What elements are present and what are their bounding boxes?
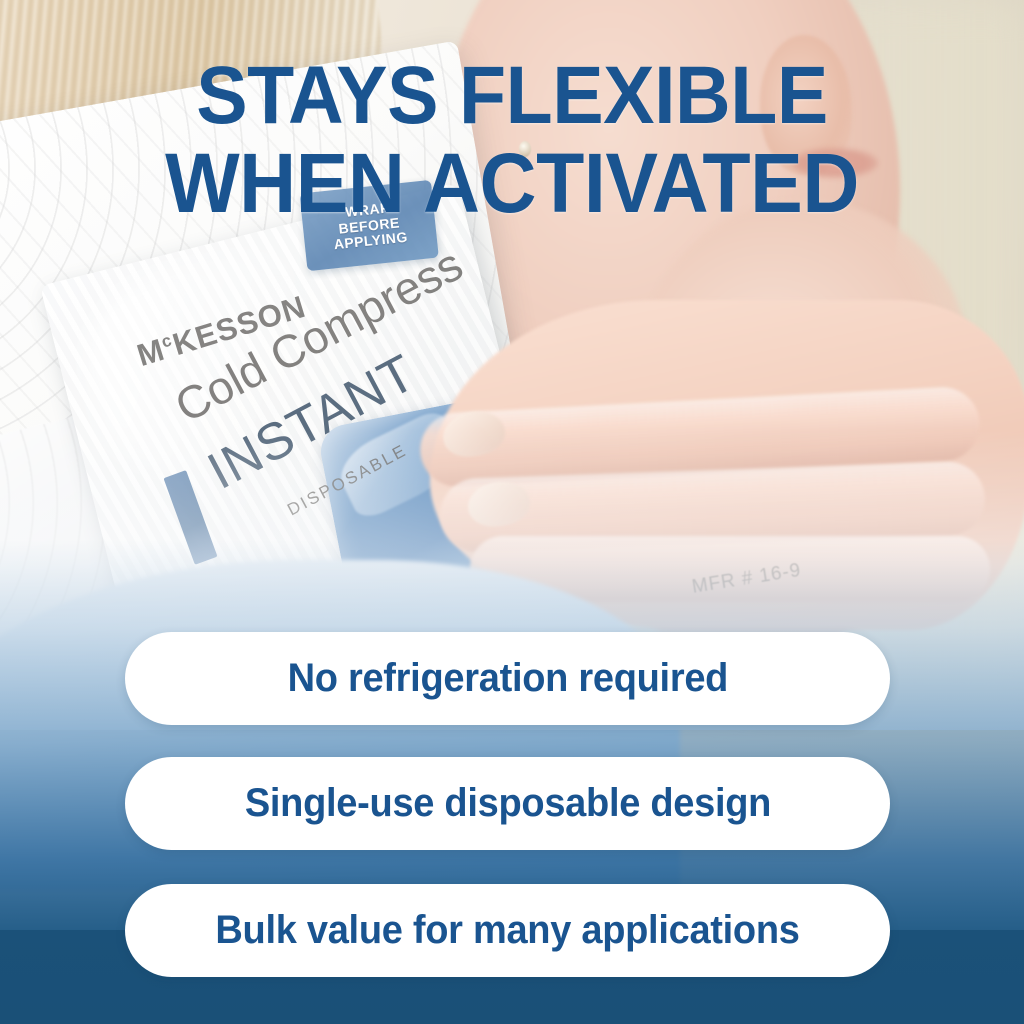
benefit-label: Bulk value for many applications [215, 908, 799, 953]
benefit-label: No refrigeration required [287, 656, 728, 701]
benefit-label: Single-use disposable design [244, 781, 770, 826]
benefit-list: No refrigeration required Single-use dis… [0, 0, 1024, 1024]
benefit-pill-bulk-value: Bulk value for many applications [125, 884, 890, 977]
benefit-pill-no-refrigeration: No refrigeration required [125, 632, 890, 725]
benefit-pill-single-use: Single-use disposable design [125, 757, 890, 850]
product-marketing-image: McKESSON Cold Compress INSTANT DISPOSABL… [0, 0, 1024, 1024]
